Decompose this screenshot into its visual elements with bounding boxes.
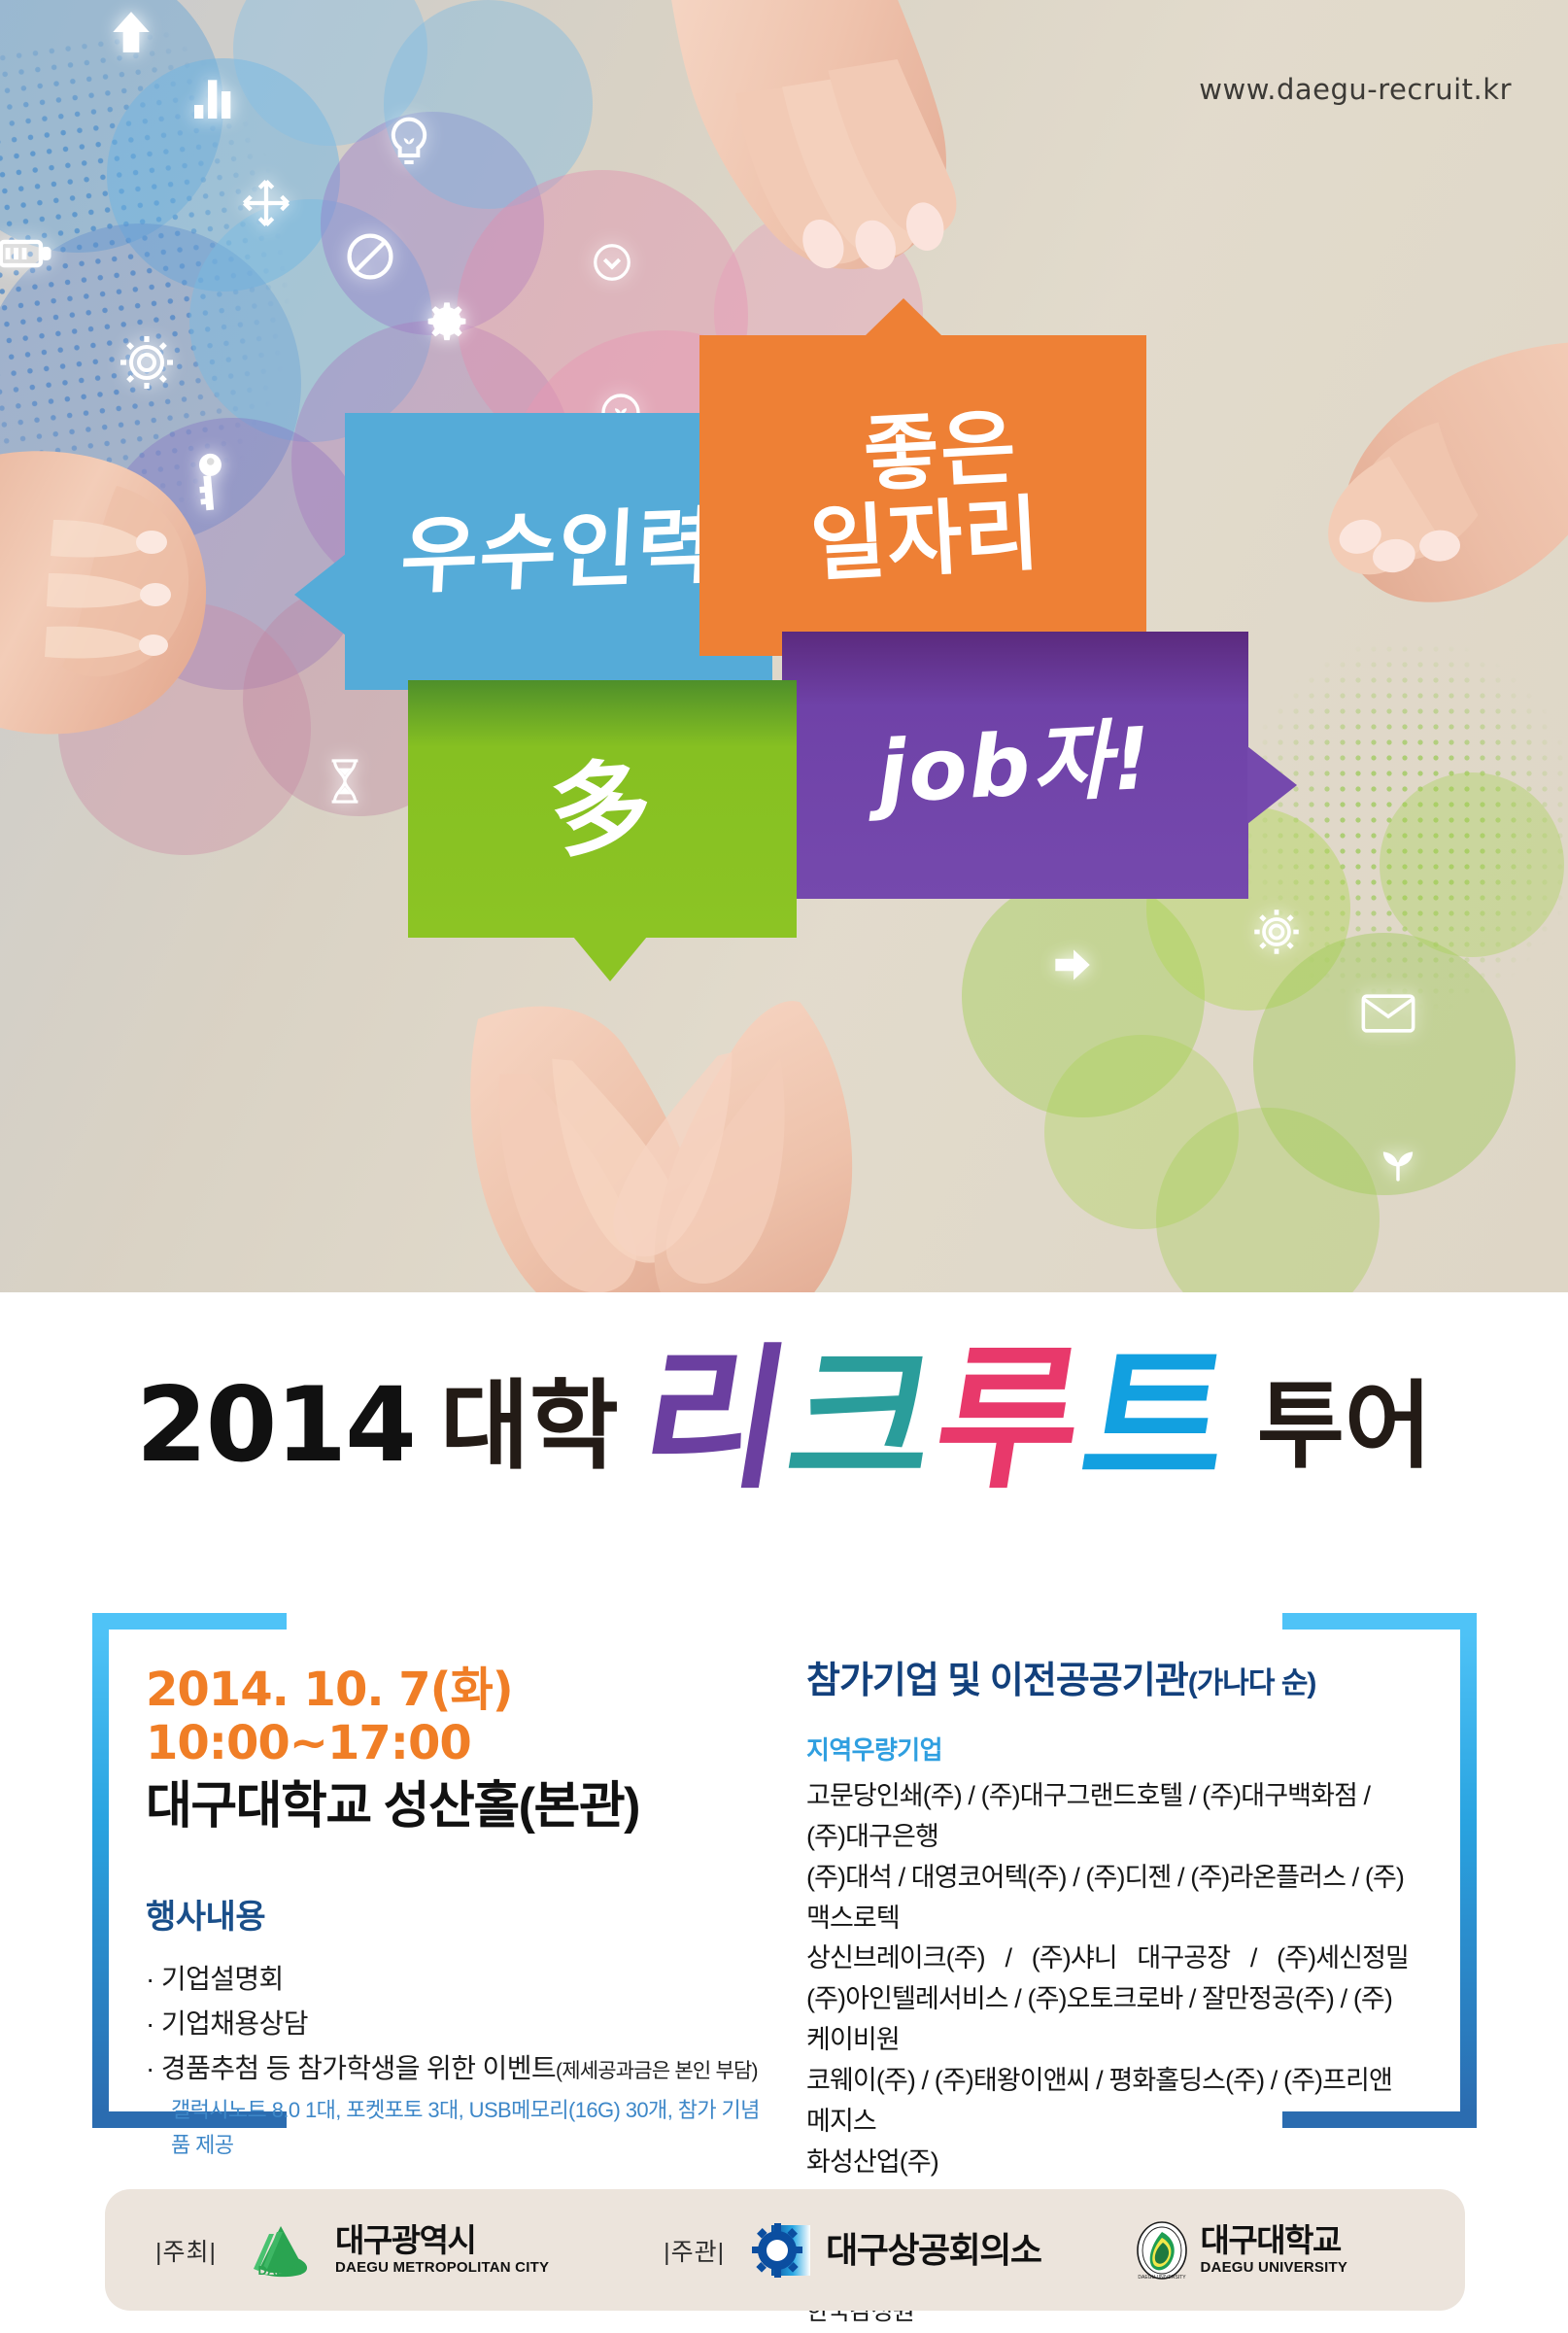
participants-heading-suffix: (가나다 순) — [1188, 1667, 1316, 1699]
gear-small-icon — [420, 296, 474, 351]
participants-group1-label: 지역우량기업 — [806, 1731, 1409, 1767]
footer-sponsors: |주최| DAEGU 대구광역시 DAEGU METROPOLITAN CITY… — [105, 2189, 1465, 2311]
list-item: · 경품추첨 등 참가학생을 위한 이벤트(제세공과금은 본인 부담) — [146, 2046, 767, 2091]
footer-organizer-group: |주관| — [664, 2223, 1040, 2278]
list-item: 고문당인쇄(주) / (주)대구그랜드호텔 / (주)대구백화점 / (주)대구… — [806, 1776, 1409, 1858]
hourglass-icon — [321, 753, 369, 809]
footer-university-group: DAEGU UNIVERSITY 대구대학교 DAEGU UNIVERSITY — [1135, 2220, 1348, 2281]
list-item: · 기업채용상담 — [146, 2002, 767, 2046]
arrow-up-icon — [105, 6, 157, 58]
event-program-heading: 행사내용 — [146, 1890, 767, 1938]
move-arrows-icon — [238, 175, 294, 231]
leaf-icon — [1370, 1132, 1426, 1188]
bubble-tail — [573, 937, 647, 981]
participants-group1-list: 고문당인쇄(주) / (주)대구그랜드호텔 / (주)대구백화점 / (주)대구… — [806, 1776, 1409, 2182]
title-daehak: 대학 — [440, 1378, 619, 1483]
footer-host-name: 대구광역시 DAEGU METROPOLITAN CITY — [335, 2224, 549, 2277]
event-gift-note: 갤럭시노트 8.0 1대, 포켓포토 3대, USB메모리(16G) 30개, … — [171, 2093, 767, 2161]
hand-bottom-center — [389, 972, 894, 1292]
play-arrow-icon — [1044, 938, 1099, 992]
footer-host-tag: |주최| — [155, 2233, 217, 2268]
title-recruit-char-2: 크 — [779, 1355, 946, 1483]
footer-organizer-tag: |주관| — [664, 2233, 725, 2268]
title-recruit-char-4: 트 — [1073, 1355, 1240, 1483]
participants-heading-main: 참가기업 및 이전공공기관 — [806, 1661, 1188, 1701]
bokeh-circle — [1380, 772, 1564, 957]
footer-organizer-name: 대구상공회의소 — [826, 2232, 1040, 2269]
dcci-logo-icon — [750, 2223, 814, 2278]
footer-university-name: 대구대학교 DAEGU UNIVERSITY — [1201, 2224, 1348, 2277]
hand-left-fist — [0, 428, 282, 758]
event-datetime: 2014. 10. 7(화) 10:00~17:00 — [146, 1664, 767, 1770]
bubble-tail — [1247, 746, 1297, 824]
gear-icon — [115, 330, 179, 395]
event-program-list: · 기업설명회 · 기업채용상담 · 경품추첨 등 참가학생을 위한 이벤트(제… — [146, 1957, 767, 2162]
bubble-orange-line2: 일자리 — [808, 494, 1042, 586]
svg-text:DAEGU: DAEGU — [258, 2263, 304, 2278]
hero-image: 우수인력 좋은 일자리 job자! 多 www.daegu-recruit.kr — [0, 0, 1568, 1292]
prohibition-icon — [342, 228, 398, 285]
footer-organizer-name-ko: 대구상공회의소 — [826, 2232, 1040, 2269]
bubble-orange-line1: 좋은 — [862, 407, 1019, 495]
list-item-note: (제세공과금은 본인 부담) — [556, 2060, 758, 2082]
title-recruit-char-1: 리 — [632, 1355, 800, 1483]
speech-bubble-green: 多 — [408, 680, 797, 938]
lightbulb-icon — [379, 112, 439, 172]
footer-host-group: |주최| DAEGU 대구광역시 DAEGU METROPOLITAN CITY — [155, 2222, 549, 2279]
list-item: 상신브레이크(주) / (주)샤니 대구공장 / (주)세신정밀 — [806, 1938, 1409, 1979]
page-title: 2014 대학 리 크 루 트 투어 — [0, 1355, 1568, 1483]
bubble-orange-text: 좋은 일자리 — [803, 406, 1042, 586]
content-area: 2014. 10. 7(화) 10:00~17:00 대구대학교 성산홀(본관)… — [0, 1603, 1568, 2147]
title-tour: 투어 — [1257, 1378, 1432, 1483]
daegu-city-logo-icon: DAEGU — [244, 2222, 320, 2279]
footer-university-name-en: DAEGU UNIVERSITY — [1201, 2259, 1348, 2276]
bubble-tail — [865, 298, 942, 336]
footer-host-name-ko: 대구광역시 — [335, 2224, 549, 2258]
daegu-university-logo-icon: DAEGU UNIVERSITY — [1135, 2220, 1189, 2281]
event-venue: 대구대학교 성산홀(본관) — [146, 1776, 767, 1836]
list-item: 화성산업(주) — [806, 2143, 1409, 2183]
hand-right — [1214, 292, 1568, 719]
bubble-green-text: 多 — [547, 755, 657, 863]
gear-icon — [1248, 904, 1305, 960]
bubble-purple-text: job자! — [875, 715, 1155, 815]
speech-bubble-purple: job자! — [782, 632, 1248, 899]
list-item: · 기업설명회 — [146, 1957, 767, 2002]
svg-text:DAEGU UNIVERSITY: DAEGU UNIVERSITY — [1138, 2275, 1186, 2281]
footer-host-name-en: DAEGU METROPOLITAN CITY — [335, 2259, 549, 2276]
bar-chart-icon — [185, 68, 245, 128]
bubble-blue-text: 우수인력 — [399, 504, 719, 599]
list-item-main: · 경품추첨 등 참가학생을 위한 이벤트 — [146, 2053, 556, 2083]
envelope-icon — [1358, 989, 1418, 1038]
list-item: 코웨이(주) / (주)태왕이앤씨 / 평화홀딩스(주) / (주)프리앤메지스 — [806, 2061, 1409, 2143]
bubble-tail — [294, 554, 346, 635]
event-info-column: 2014. 10. 7(화) 10:00~17:00 대구대학교 성산홀(본관)… — [146, 1664, 767, 2251]
website-url[interactable]: www.daegu-recruit.kr — [1199, 73, 1512, 106]
list-item: (주)아인텔레서비스 / (주)오토크로바 / 잘만정공(주) / (주)케이비… — [806, 1979, 1409, 2061]
hand-top-center — [602, 0, 1010, 389]
battery-icon — [0, 223, 54, 284]
participants-heading: 참가기업 및 이전공공기관(가나다 순) — [806, 1650, 1409, 1703]
speech-bubble-orange: 좋은 일자리 — [699, 335, 1146, 656]
title-recruit: 리 크 루 트 — [632, 1355, 1241, 1483]
title-recruit-char-3: 루 — [926, 1355, 1093, 1483]
title-year: 2014 — [136, 1374, 415, 1483]
footer-university-name-ko: 대구대학교 — [1201, 2224, 1348, 2258]
list-item: (주)대석 / 대영코어텍(주) / (주)디젠 / (주)라온플러스 / (주… — [806, 1858, 1409, 1939]
